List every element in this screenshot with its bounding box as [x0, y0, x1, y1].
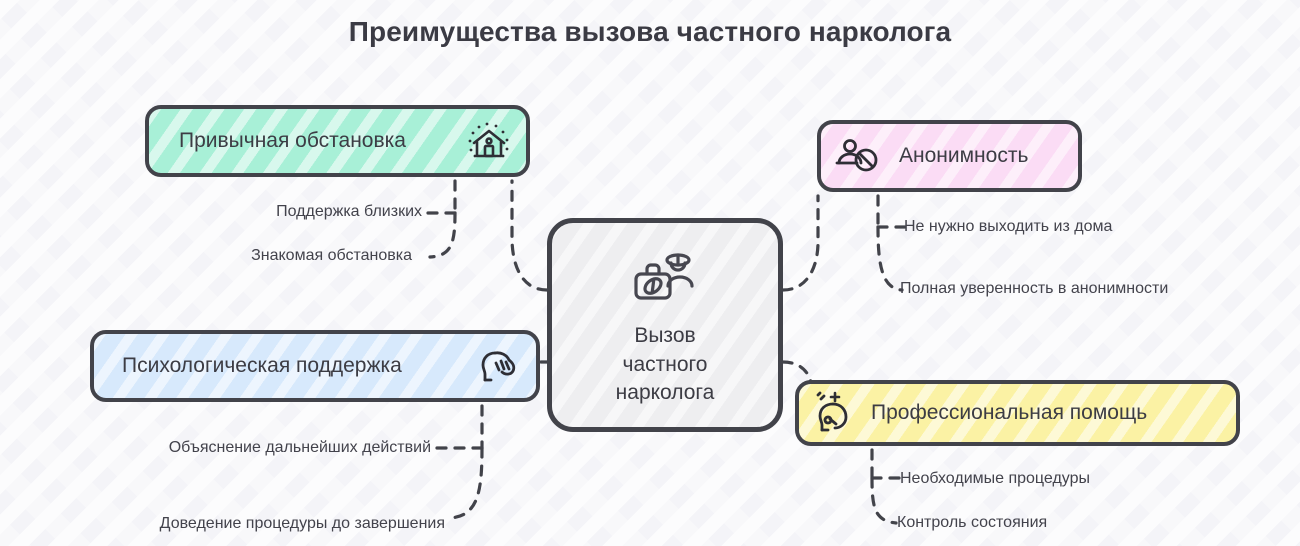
branch-node-psychological[interactable]: Психологическая поддержка: [90, 330, 540, 402]
leaf-psychological-2: Доведение процедуры до завершения: [40, 515, 445, 533]
branch-node-anonymity[interactable]: Анонимность: [817, 120, 1082, 192]
connector-anonymity-leaf-2: [878, 227, 902, 290]
leaf-home-2: Знакомая обстановка: [140, 247, 412, 265]
head-medical-cross-icon: [809, 391, 859, 435]
leaf-home-1: Поддержка близких: [140, 203, 422, 221]
connector-professional-leaf-2: [872, 478, 896, 523]
branch-node-professional[interactable]: Профессиональная помощь: [795, 380, 1240, 446]
connector-home-leaf-2: [430, 213, 455, 257]
doctor-medical-bag-icon: [628, 248, 702, 310]
page-title: Преимущества вызова частного нарколога: [0, 16, 1300, 48]
branch-node-professional-label: Профессиональная помощь: [871, 401, 1147, 425]
branch-node-home[interactable]: Привычная обстановка: [145, 105, 530, 177]
leaf-anonymity-2: Полная уверенность в анонимности: [900, 280, 1168, 298]
connector-center-to-home: [512, 181, 547, 290]
leaf-psychological-1: Объяснение дальнейших действий: [60, 439, 431, 457]
center-node[interactable]: Вызов частного нарколога: [547, 218, 783, 432]
center-node-label: Вызов частного нарколога: [616, 322, 715, 408]
house-with-person-icon: [466, 119, 512, 163]
branch-node-psychological-label: Психологическая поддержка: [122, 354, 402, 378]
connector-psychological-leaf-2: [450, 448, 482, 518]
branch-node-home-label: Привычная обстановка: [179, 129, 406, 153]
leaf-anonymity-1: Не нужно выходить из дома: [904, 218, 1112, 236]
person-no-entry-icon: [833, 135, 885, 177]
connector-center-to-anonymity: [783, 196, 818, 290]
leaf-professional-1: Необходимые процедуры: [900, 470, 1090, 488]
head-helping-hand-icon: [476, 345, 522, 387]
leaf-professional-2: Контроль состояния: [897, 514, 1047, 532]
branch-node-anonymity-label: Анонимность: [899, 144, 1028, 168]
